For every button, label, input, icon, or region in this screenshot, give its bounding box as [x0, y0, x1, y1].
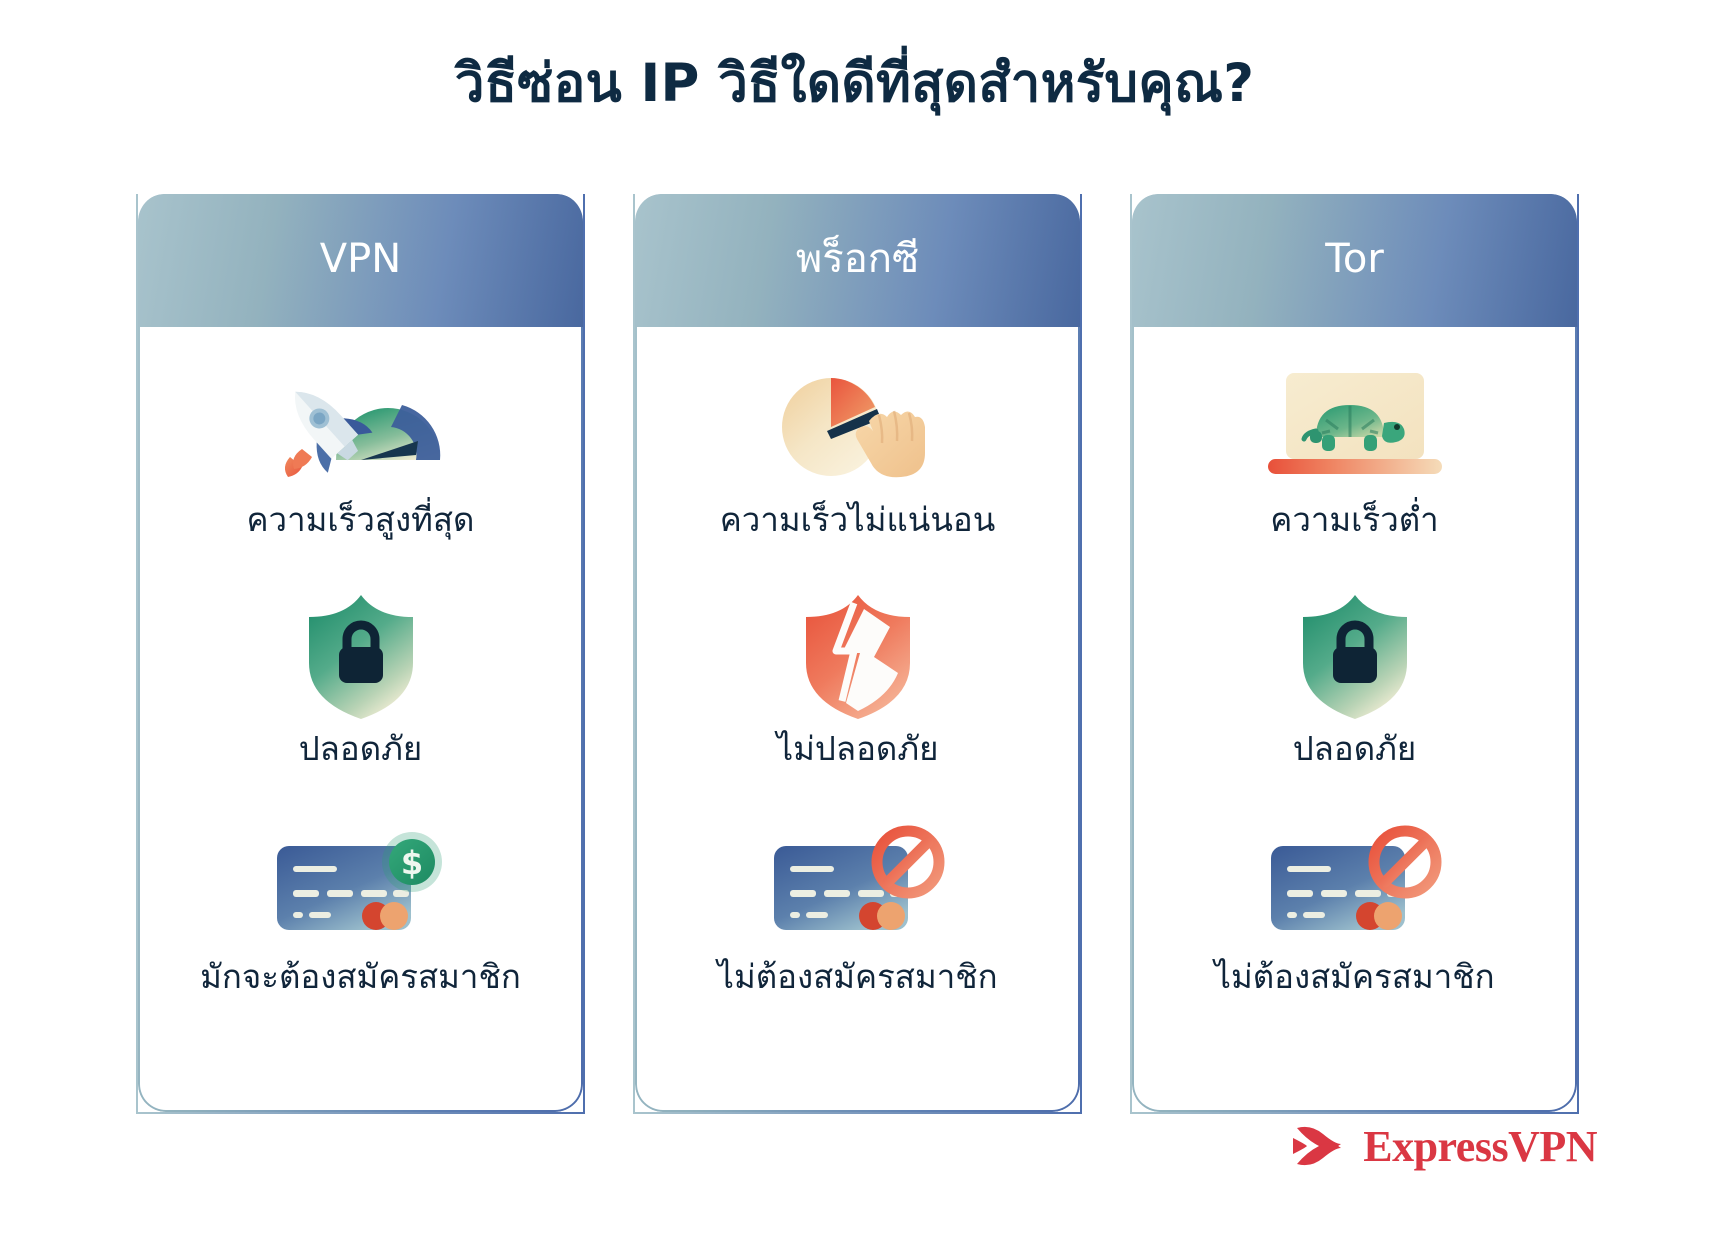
feature-signup-vpn: $ มักจะต้องสมัครสมาชิก: [138, 820, 583, 997]
feature-label: ไม่ต้องสมัครสมาชิก: [717, 956, 997, 997]
comparison-cards: VPN: [136, 194, 1580, 1114]
laptop-turtle-icon: [1260, 363, 1450, 491]
feature-signup-tor: ไม่ต้องสมัครสมาชิก: [1132, 820, 1577, 997]
credit-card-blocked-icon: [768, 820, 948, 948]
page-title: วิธีซ่อน IP วิธีใดดีที่สุดสำหรับคุณ?: [0, 52, 1709, 116]
infographic-page: วิธีซ่อน IP วิธีใดดีที่สุดสำหรับคุณ? VPN: [0, 0, 1709, 1240]
credit-card-blocked-icon: [1265, 820, 1445, 948]
card-header-proxy: พร็อกซี: [635, 194, 1080, 327]
shield-broken-icon: [802, 592, 914, 720]
svg-text:$: $: [400, 844, 422, 882]
feature-speed-proxy: ความเร็วไม่แน่นอน: [635, 363, 1080, 540]
card-title-tor: Tor: [1325, 239, 1384, 283]
feature-label: ความเร็วต่ำ: [1270, 499, 1438, 540]
shield-lock-icon: [305, 592, 417, 720]
feature-label: มักจะต้องสมัครสมาชิก: [200, 956, 521, 997]
speed-dial-hand-icon: [763, 363, 953, 491]
feature-label: ปลอดภัย: [1293, 728, 1417, 769]
card-title-vpn: VPN: [320, 239, 401, 283]
card-header-tor: Tor: [1132, 194, 1577, 327]
expressvpn-logo: ExpressVPN: [1287, 1118, 1597, 1174]
shield-lock-icon: [1299, 592, 1411, 720]
card-body-proxy: ความเร็วไม่แน่นอน: [635, 327, 1080, 1112]
comparison-card-proxy: พร็อกซี: [633, 194, 1082, 1114]
feature-label: ความเร็วไม่แน่นอน: [720, 499, 996, 540]
feature-label: ความเร็วสูงที่สุด: [246, 499, 474, 540]
card-body-tor: ความเร็วต่ำ: [1132, 327, 1577, 1112]
feature-label: ปลอดภัย: [299, 728, 423, 769]
comparison-card-vpn: VPN: [136, 194, 585, 1114]
feature-speed-tor: ความเร็วต่ำ: [1132, 363, 1577, 540]
feature-label: ไม่ต้องสมัครสมาชิก: [1214, 956, 1494, 997]
expressvpn-logo-text: ExpressVPN: [1363, 1121, 1597, 1172]
card-header-vpn: VPN: [138, 194, 583, 327]
feature-security-tor: ปลอดภัย: [1132, 592, 1577, 769]
card-body-vpn: ความเร็วสูงที่สุด: [138, 327, 583, 1112]
comparison-card-tor: Tor: [1130, 194, 1579, 1114]
feature-security-vpn: ปลอดภัย: [138, 592, 583, 769]
feature-signup-proxy: ไม่ต้องสมัครสมาชิก: [635, 820, 1080, 997]
feature-speed-vpn: ความเร็วสูงที่สุด: [138, 363, 583, 540]
card-title-proxy: พร็อกซี: [796, 239, 919, 283]
feature-label: ไม่ปลอดภัย: [777, 728, 939, 769]
credit-card-dollar-icon: $: [271, 820, 451, 948]
rocket-speedometer-icon: [266, 363, 456, 491]
feature-security-proxy: ไม่ปลอดภัย: [635, 592, 1080, 769]
expressvpn-logo-icon: [1287, 1118, 1351, 1174]
